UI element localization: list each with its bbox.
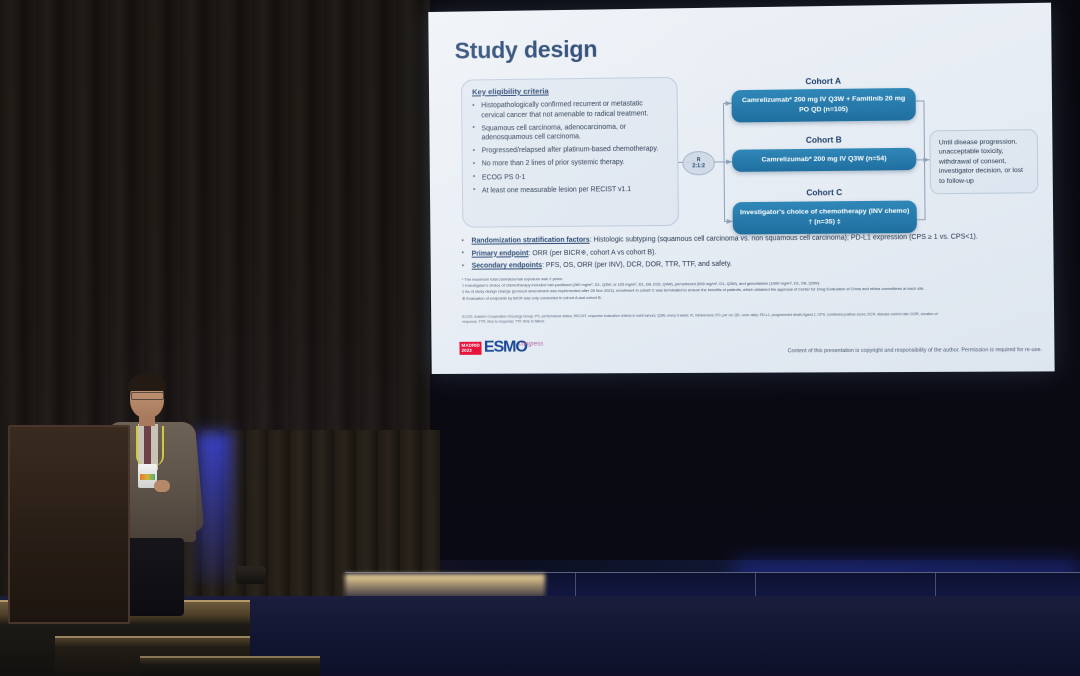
glasses-icon xyxy=(131,392,164,400)
eligibility-heading: Key eligibility criteria xyxy=(472,85,667,96)
randomization-node: R 2:1:2 xyxy=(682,151,715,176)
presenter-hair xyxy=(128,374,166,391)
stage-step-lower xyxy=(140,656,320,676)
stage-monitor-speaker xyxy=(236,566,266,584)
cohort-b-label: Cohort B xyxy=(732,135,916,146)
eligibility-card: Key eligibility criteria Histopathologic… xyxy=(461,77,679,228)
bullet-rest: : ORR (per BICR※, cohort A vs cohort B). xyxy=(528,249,656,257)
presenter-lanyard xyxy=(136,426,164,466)
cohort-a-label: Cohort A xyxy=(731,76,915,87)
list-item: At least one measurable lesion per RECIS… xyxy=(473,184,668,196)
list-item: No more than 2 lines of prior systemic t… xyxy=(473,158,668,170)
projected-slide: Study design xyxy=(428,3,1054,374)
list-item: ECOG PS 0-1 xyxy=(473,171,668,183)
cohort-a-box: Camrelizumab* 200 mg IV Q3W + Famitinib … xyxy=(731,88,915,123)
presenter-legs xyxy=(122,538,184,616)
bullet-rest: : PFS, OS, ORR (per INV), DCR, DOR, TTR,… xyxy=(542,261,732,269)
endpoint-bullets: Randomization stratification factors: Hi… xyxy=(458,231,1039,274)
footnotes: * The maximum total camrelizumab exposur… xyxy=(462,273,1039,302)
bullet-lead: Randomization stratification factors xyxy=(471,237,589,245)
presenter-hand xyxy=(154,480,170,492)
esmo-city-badge: MADRID 2023 xyxy=(459,341,482,354)
abbreviations: ECOG, Eastern Cooperative Oncology Group… xyxy=(462,312,939,325)
bullet-lead: Secondary endpoints xyxy=(472,262,542,270)
esmo-year: 2023 xyxy=(461,348,471,353)
list-item: Histopathologically confirmed recurrent … xyxy=(472,99,667,121)
cohort-b-box: Camrelizumab* 200 mg IV Q3W (n=54) xyxy=(732,148,916,172)
cohort-c-box: Investigator's choice of chemotherapy (I… xyxy=(733,200,917,234)
cohort-c-label: Cohort C xyxy=(732,187,916,198)
list-item: Progressed/relapsed after platinum-based… xyxy=(473,145,668,157)
podium: MADRID 2023 ESMO congress MA xyxy=(8,425,130,624)
copyright-note: Content of this presentation is copyrigh… xyxy=(734,347,1042,355)
esmo-logo-slide: MADRID 2023 ESMO congress xyxy=(459,338,543,356)
list-item: Squamous cell carcinoma, adenocarcinoma,… xyxy=(472,122,667,143)
slide-title: Study design xyxy=(455,36,598,65)
stage-edge-light xyxy=(345,574,545,598)
bullet-rest: : Histologic subtyping (squamous cell ca… xyxy=(590,233,978,243)
bullet-lead: Primary endpoint xyxy=(472,250,529,257)
esmo-congress-word: congress xyxy=(519,341,544,347)
eligibility-list: Histopathologically confirmed recurrent … xyxy=(472,99,667,196)
conference-photo: Study design xyxy=(0,0,1080,676)
treatment-duration-box: Until disease progression, unacceptable … xyxy=(929,129,1038,194)
randomization-ratio: 2:1:2 xyxy=(692,163,705,169)
